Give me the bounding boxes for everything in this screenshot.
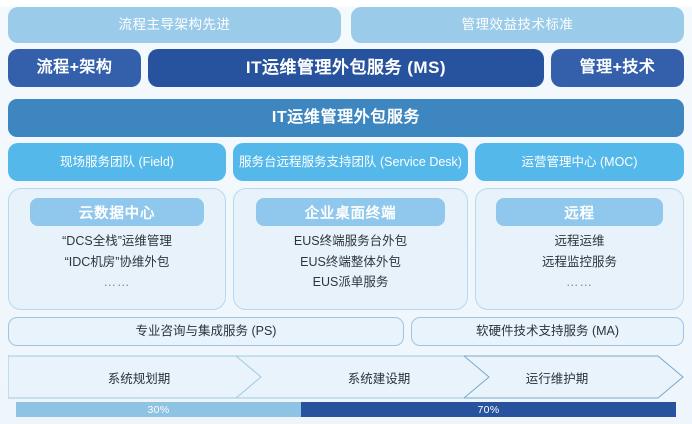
- card-item: “IDC机房”协维外包: [65, 255, 170, 271]
- theme-pill-management-technology[interactable]: 管理效益技术标准: [351, 7, 684, 43]
- phase-chevron-operation[interactable]: 运行维护期: [464, 355, 684, 399]
- service-card-cloud-data-center[interactable]: 云数据中心 “DCS全栈”运维管理 “IDC机房”协维外包 ……: [8, 188, 226, 310]
- card-item: EUS终端整体外包: [300, 255, 401, 271]
- core-center-ms-service[interactable]: IT运维管理外包服务 (MS): [148, 49, 544, 87]
- team-pill-moc[interactable]: 运营管理中心 (MOC): [475, 143, 684, 181]
- support-pill-ma[interactable]: 软硬件技术支持服务 (MA): [411, 317, 684, 346]
- teams-row: 现场服务团队 (Field) 服务台远程服务支持团队 (Service Desk…: [0, 143, 692, 181]
- card-item: 远程监控服务: [542, 255, 617, 271]
- phase-chevron-planning[interactable]: 系统规划期: [8, 355, 270, 399]
- service-cards-row: 云数据中心 “DCS全栈”运维管理 “IDC机房”协维外包 …… 企业桌面终端 …: [0, 188, 692, 310]
- card-title-cloud-data-center: 云数据中心: [30, 198, 204, 226]
- support-row: 专业咨询与集成服务 (PS) 软硬件技术支持服务 (MA): [0, 317, 692, 346]
- support-pill-ps[interactable]: 专业咨询与集成服务 (PS): [8, 317, 404, 346]
- banner-it-ops-outsourcing[interactable]: IT运维管理外包服务: [8, 99, 684, 137]
- theme-pill-process-architecture[interactable]: 流程主导架构先进: [8, 7, 341, 43]
- progress-bar[interactable]: 30% 70%: [16, 402, 676, 417]
- phase-label: 运行维护期: [526, 368, 589, 387]
- progress-row: 30% 70%: [0, 402, 692, 417]
- banner-row: IT运维管理外包服务: [0, 99, 692, 137]
- team-pill-field[interactable]: 现场服务团队 (Field): [8, 143, 226, 181]
- card-title-enterprise-desktop: 企业桌面终端: [256, 198, 446, 226]
- progress-segment-70: 70%: [301, 402, 676, 417]
- phase-label: 系统建设期: [348, 368, 411, 387]
- card-item: 远程运维: [554, 234, 604, 250]
- team-pill-service-desk[interactable]: 服务台远程服务支持团队 (Service Desk): [233, 143, 468, 181]
- card-item: EUS终端服务台外包: [294, 234, 407, 250]
- progress-segment-30: 30%: [16, 402, 301, 417]
- core-right-management-technology[interactable]: 管理+技术: [551, 49, 684, 87]
- card-item: EUS派单服务: [313, 275, 389, 291]
- core-row: 流程+架构 IT运维管理外包服务 (MS) 管理+技术: [0, 49, 692, 87]
- card-item-list: EUS终端服务台外包 EUS终端整体外包 EUS派单服务: [244, 234, 457, 291]
- card-item-list: “DCS全栈”运维管理 “IDC机房”协维外包 ……: [19, 234, 215, 291]
- theme-row: 流程主导架构先进 管理效益技术标准: [0, 7, 692, 43]
- phase-chevron-construction[interactable]: 系统建设期: [236, 355, 498, 399]
- service-card-remote[interactable]: 远程 远程运维 远程监控服务 ……: [475, 188, 684, 310]
- service-card-enterprise-desktop[interactable]: 企业桌面终端 EUS终端服务台外包 EUS终端整体外包 EUS派单服务: [233, 188, 468, 310]
- phase-label: 系统规划期: [108, 368, 171, 387]
- card-item-ellipsis: ……: [104, 275, 131, 291]
- phases-row: 系统规划期 系统建设期 运行维护期: [0, 355, 692, 399]
- card-item-list: 远程运维 远程监控服务 ……: [486, 234, 673, 291]
- core-left-process-architecture[interactable]: 流程+架构: [8, 49, 141, 87]
- card-item-ellipsis: ……: [566, 275, 593, 291]
- diagram-canvas: 流程主导架构先进 管理效益技术标准 流程+架构 IT运维管理外包服务 (MS) …: [0, 0, 692, 424]
- card-item: “DCS全栈”运维管理: [62, 234, 172, 250]
- card-title-remote: 远程: [496, 198, 662, 226]
